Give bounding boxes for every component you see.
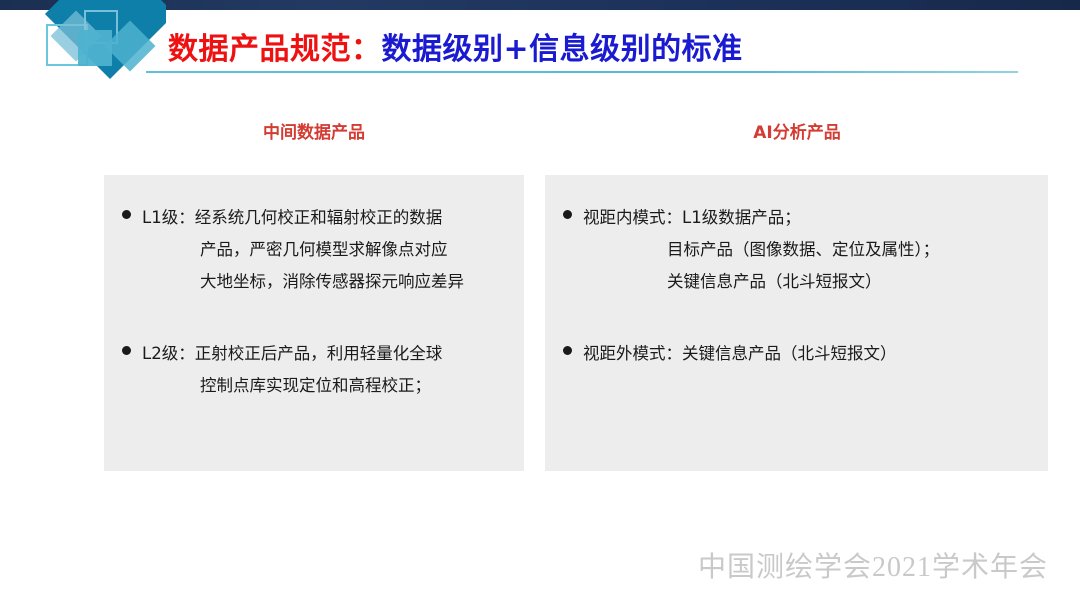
bullet-dot-icon bbox=[563, 346, 572, 355]
list-item: 视距外模式：关键信息产品（北斗短报文） bbox=[563, 338, 897, 370]
column-heading-left: 中间数据产品 bbox=[104, 118, 524, 143]
list-item: L2级：正射校正后产品，利用轻量化全球 控制点库实现定位和高程校正； bbox=[122, 338, 442, 402]
content-panel-left: L1级：经系统几何校正和辐射校正的数据 产品，严密几何模型求解像点对应 大地坐标… bbox=[104, 175, 524, 471]
list-item: 视距内模式：L1级数据产品； 目标产品（图像数据、定位及属性）； 关键信息产品（… bbox=[563, 202, 939, 298]
bullet-dot-icon bbox=[563, 210, 572, 219]
list-item-line: L2级：正射校正后产品，利用轻量化全球 bbox=[142, 338, 442, 370]
bullet-dot-icon bbox=[122, 346, 131, 355]
list-item-line: 产品，严密几何模型求解像点对应 bbox=[142, 234, 464, 266]
list-item-text: L1级：经系统几何校正和辐射校正的数据 产品，严密几何模型求解像点对应 大地坐标… bbox=[142, 202, 464, 298]
list-item-line: 关键信息产品（北斗短报文） bbox=[583, 266, 939, 298]
column-heading-right: AI分析产品 bbox=[546, 118, 1048, 143]
list-item-line: 大地坐标，消除传感器探元响应差异 bbox=[142, 266, 464, 298]
title-underline-rule bbox=[146, 71, 1018, 73]
list-item: L1级：经系统几何校正和辐射校正的数据 产品，严密几何模型求解像点对应 大地坐标… bbox=[122, 202, 464, 298]
list-item-line: 视距外模式：关键信息产品（北斗短报文） bbox=[583, 338, 897, 370]
list-item-text: 视距外模式：关键信息产品（北斗短报文） bbox=[583, 338, 897, 370]
slide-root: { "slide": { "title": { "red_part": "数据产… bbox=[0, 0, 1080, 607]
content-panel-right: 视距内模式：L1级数据产品； 目标产品（图像数据、定位及属性）； 关键信息产品（… bbox=[545, 175, 1048, 471]
list-item-line: 控制点库实现定位和高程校正； bbox=[142, 370, 442, 402]
list-item-text: L2级：正射校正后产品，利用轻量化全球 控制点库实现定位和高程校正； bbox=[142, 338, 442, 402]
bullet-dot-icon bbox=[122, 210, 131, 219]
page-title-red: 数据产品规范： bbox=[168, 32, 382, 67]
list-item-line: L1级：经系统几何校正和辐射校正的数据 bbox=[142, 202, 464, 234]
footer-text: 中国测绘学会2021学术年会 bbox=[698, 545, 1048, 585]
list-item-text: 视距内模式：L1级数据产品； 目标产品（图像数据、定位及属性）； 关键信息产品（… bbox=[583, 202, 939, 298]
list-item-line: 目标产品（图像数据、定位及属性）； bbox=[583, 234, 939, 266]
page-title-blue: 数据级别+信息级别的标准 bbox=[382, 32, 743, 67]
list-item-line: 视距内模式：L1级数据产品； bbox=[583, 202, 939, 234]
decorative-diamond-cluster bbox=[34, 0, 166, 90]
page-title: 数据产品规范：数据级别+信息级别的标准 bbox=[168, 24, 1028, 68]
